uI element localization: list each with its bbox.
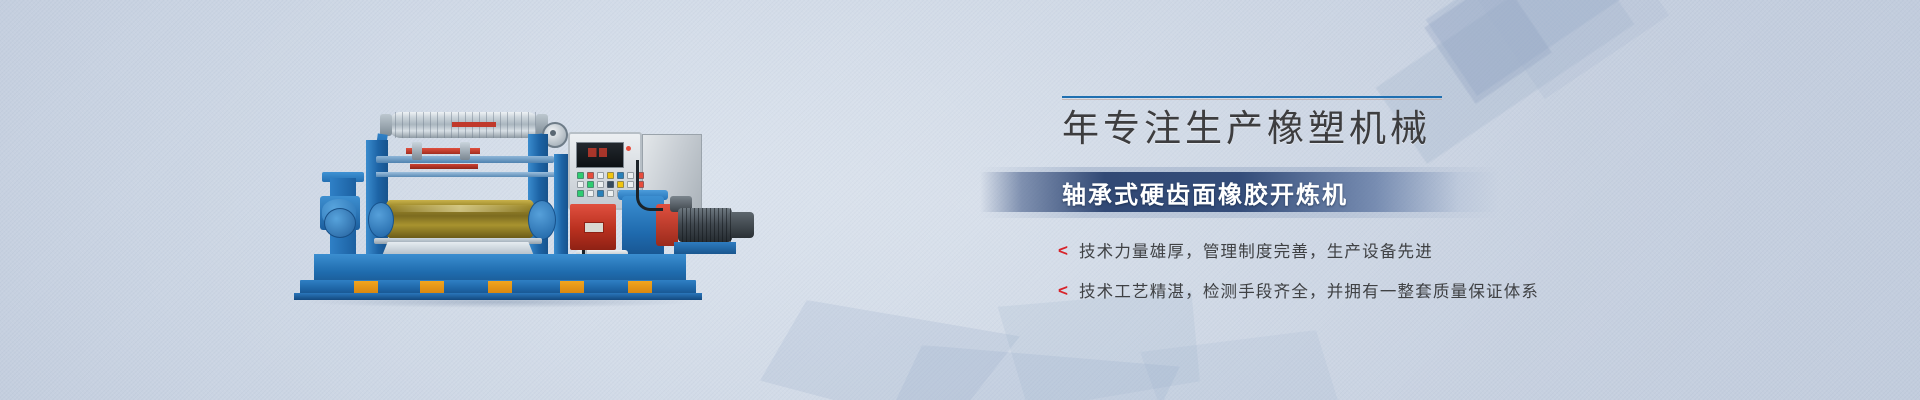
panel-button <box>607 190 614 197</box>
roller-rib <box>514 112 515 138</box>
banner-text-block: 年专注生产橡塑机械 轴承式硬齿面橡胶开炼机 < 技术力量雄厚，管理制度完善，生产… <box>1062 96 1622 149</box>
list-item: < 技术力量雄厚，管理制度完善，生产设备先进 <box>1058 238 1539 262</box>
machine-clamp <box>412 142 422 160</box>
panel-button <box>597 190 604 197</box>
panel-button <box>587 172 594 179</box>
roller-rib <box>409 112 410 138</box>
roller-rib <box>416 112 417 138</box>
panel-button <box>587 190 594 197</box>
roller-rib <box>507 112 508 138</box>
machine-roller-cap-left <box>368 202 394 238</box>
background-vignette <box>0 0 1920 400</box>
machine-red-unit-plate <box>584 222 604 233</box>
motor-cooling-fin <box>698 208 699 242</box>
machine-clamp <box>460 142 470 160</box>
motor-cooling-fin <box>682 208 683 242</box>
roller-rib <box>430 112 431 138</box>
feature-text: 技术工艺精湛，检测手段齐全，并拥有一整套质量保证体系 <box>1079 278 1539 302</box>
banner-subtitle: 轴承式硬齿面橡胶开炼机 <box>1062 175 1348 210</box>
panel-button <box>597 181 604 188</box>
decorative-slab-icon <box>1461 0 1669 99</box>
motor-cooling-fin <box>690 208 691 242</box>
motor-cooling-fin <box>710 208 711 242</box>
machine-motor-fan-cover <box>728 212 754 238</box>
motor-cooling-fin <box>714 208 715 242</box>
headline-divider-rule <box>1062 96 1442 98</box>
roller-rib <box>500 112 501 138</box>
control-panel-button-row <box>577 181 644 188</box>
machine-cable-conduit <box>636 160 663 211</box>
motor-cooling-fin <box>722 208 723 242</box>
roller-rib <box>521 112 522 138</box>
motor-cooling-fin <box>702 208 703 242</box>
motor-cooling-fin <box>730 208 731 242</box>
machine-handwheel-hub <box>550 130 556 136</box>
motor-cooling-fin <box>726 208 727 242</box>
background-texture <box>0 0 1920 400</box>
panel-button <box>607 172 614 179</box>
control-panel-digits <box>588 148 612 157</box>
machine-base-lip <box>294 293 702 300</box>
panel-button <box>577 172 584 179</box>
decorative-slab-icon <box>1426 0 1685 96</box>
machine-top-rail-lower <box>376 172 554 177</box>
panel-button <box>627 172 634 179</box>
chevron-left-icon: < <box>1058 282 1068 299</box>
motor-cooling-fin <box>686 208 687 242</box>
banner-subtitle-bar: 轴承式硬齿面橡胶开炼机 <box>980 172 1500 212</box>
panel-button <box>617 181 624 188</box>
machine-roller-highlight <box>390 205 530 212</box>
list-item: < 技术工艺精湛，检测手段齐全，并拥有一整套质量保证体系 <box>1058 278 1539 302</box>
panel-button <box>587 181 594 188</box>
panel-button <box>627 181 634 188</box>
machine-roller-cap-right <box>528 200 556 240</box>
decorative-polygon-icon <box>1140 330 1340 400</box>
promo-banner: 年专注生产橡塑机械 轴承式硬齿面橡胶开炼机 < 技术力量雄厚，管理制度完善，生产… <box>0 0 1920 400</box>
control-panel-indicator-light <box>626 146 631 151</box>
motor-cooling-fin <box>718 208 719 242</box>
machine-bearing-hub <box>324 208 356 238</box>
panel-button <box>577 190 584 197</box>
decorative-polygon-icon <box>760 300 1020 400</box>
panel-button <box>607 181 614 188</box>
control-panel-button-row <box>577 172 644 179</box>
product-image-rubber-mixing-mill <box>292 100 712 315</box>
machine-roller-end-left <box>380 114 392 136</box>
roller-rib <box>437 112 438 138</box>
banner-feature-list: < 技术力量雄厚，管理制度完善，生产设备先进 < 技术工艺精湛，检测手段齐全，并… <box>1058 238 1539 318</box>
decorative-polygon-icon <box>880 345 1180 400</box>
banner-headline: 年专注生产橡塑机械 <box>1062 108 1622 149</box>
roller-rib <box>423 112 424 138</box>
panel-button <box>577 181 584 188</box>
panel-button <box>597 172 604 179</box>
panel-button <box>617 172 624 179</box>
roller-rib <box>444 112 445 138</box>
machine-frame-pillar <box>554 154 568 262</box>
motor-cooling-fin <box>694 208 695 242</box>
motor-cooling-fin <box>706 208 707 242</box>
decorative-slab-icon <box>1424 0 1552 104</box>
machine-motor-base <box>674 242 736 254</box>
chevron-left-icon: < <box>1058 242 1068 259</box>
feature-text: 技术力量雄厚，管理制度完善，生产设备先进 <box>1079 238 1433 262</box>
machine-roller-red-stripe <box>452 122 496 127</box>
machine-red-crossbar-lower <box>410 164 478 169</box>
roller-rib <box>402 112 403 138</box>
roller-rib <box>395 112 396 138</box>
